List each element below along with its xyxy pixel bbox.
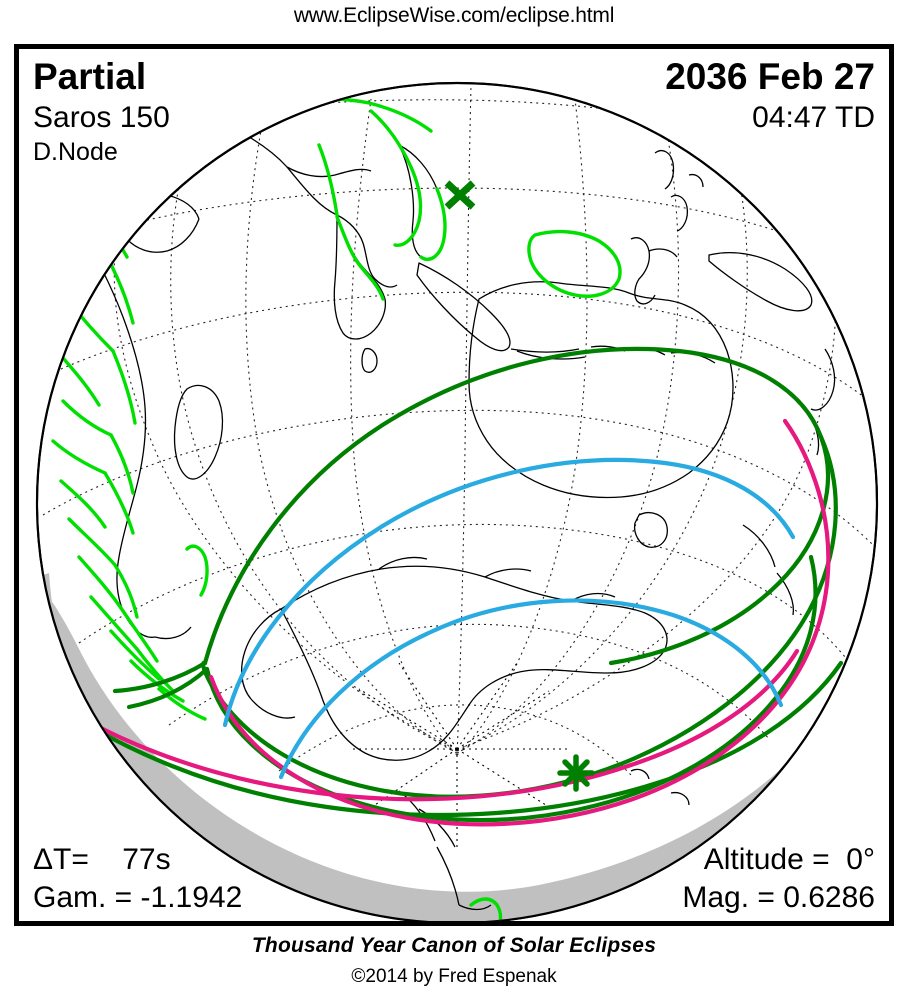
eclipse-time-label: 04:47 TD	[665, 99, 875, 136]
eclipse-type-label: Partial	[33, 55, 170, 99]
subsolar-point-marker	[560, 757, 592, 789]
globe-svg	[19, 49, 889, 921]
globe-map	[19, 49, 889, 921]
delta-t-value: ΔT= 77s	[33, 841, 242, 879]
eclipse-diagram-panel: Partial Saros 150 D.Node 2036 Feb 27 04:…	[14, 44, 894, 926]
source-url: www.EclipseWise.com/eclipse.html	[0, 4, 908, 28]
gamma-value: Gam. = -1.1942	[33, 879, 242, 917]
publication-title: Thousand Year Canon of Solar Eclipses	[0, 934, 908, 958]
magnitude-value: Mag. = 0.6286	[682, 879, 875, 917]
node-label: D.Node	[33, 136, 170, 168]
eclipse-info-bottom-right: Altitude = 0° Mag. = 0.6286	[682, 841, 875, 917]
eclipse-date-label: 2036 Feb 27	[665, 55, 875, 99]
copyright-credit: ©2014 by Fred Espenak	[0, 966, 908, 988]
eclipse-info-bottom-left: ΔT= 77s Gam. = -1.1942	[33, 841, 242, 917]
eclipse-info-top-right: 2036 Feb 27 04:47 TD	[665, 55, 875, 136]
altitude-value: Altitude = 0°	[682, 841, 875, 879]
eclipse-info-top-left: Partial Saros 150 D.Node	[33, 55, 170, 168]
saros-label: Saros 150	[33, 99, 170, 136]
